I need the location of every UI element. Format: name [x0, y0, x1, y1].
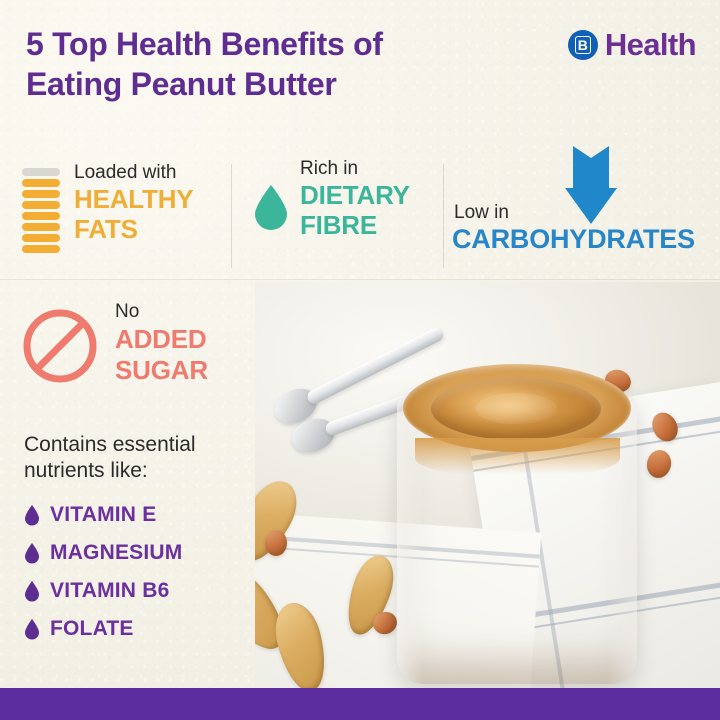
benefit-no-added-sugar-big-2: SUGAR — [115, 355, 208, 386]
benefit-healthy-fats-text: Loaded with HEALTHY FATS — [74, 162, 193, 244]
page-title-line-2: Eating Peanut Butter — [26, 64, 496, 104]
benefit-no-added-sugar-text: No ADDED SUGAR — [115, 300, 208, 386]
purple-drop-icon — [24, 619, 40, 640]
benefit-divider-2 — [443, 164, 444, 268]
benefit-divider-1 — [231, 164, 232, 268]
benefit-no-added-sugar-big-1: ADDED — [115, 324, 208, 355]
benefit-dietary-fibre-big-2: FIBRE — [300, 210, 410, 240]
benefit-low-carbohydrates-small: Low in — [454, 202, 509, 224]
down-arrow-icon — [565, 144, 617, 226]
nutrient-label: VITAMIN E — [50, 503, 156, 527]
infographic-canvas: 5 Top Health Benefits of Eating Peanut B… — [0, 0, 720, 720]
benefit-dietary-fibre-small: Rich in — [300, 158, 410, 180]
brand-logo-wordmark: Health — [605, 27, 696, 63]
water-drop-icon — [252, 184, 290, 230]
list-item: VITAMIN B6 — [24, 572, 254, 610]
jar-glass-highlight-left — [397, 392, 423, 684]
list-item: MAGNESIUM — [24, 534, 254, 572]
photo-peanut-butter-jar — [397, 364, 637, 684]
benefit-dietary-fibre-text: Rich in DIETARY FIBRE — [300, 158, 410, 240]
nutrients-lead-line-2: nutrients like: — [24, 458, 254, 484]
nutrients-section: Contains essential nutrients like: VITAM… — [24, 432, 254, 648]
list-item: FOLATE — [24, 610, 254, 648]
benefit-low-carbohydrates-big-1: CARBOHYDRATES — [452, 224, 695, 254]
nutrients-lead-line-1: Contains essential — [24, 432, 254, 458]
benefit-healthy-fats-small: Loaded with — [74, 162, 193, 184]
nutrient-label: MAGNESIUM — [50, 541, 182, 565]
stacked-bars-icon — [22, 168, 60, 253]
benefit-healthy-fats-big-2: FATS — [74, 214, 193, 244]
brand-logo-icon: B — [568, 30, 598, 60]
section-divider-line — [0, 279, 720, 280]
list-item: VITAMIN E — [24, 496, 254, 534]
nutrient-label: VITAMIN B6 — [50, 579, 169, 603]
nutrients-lead: Contains essential nutrients like: — [24, 432, 254, 484]
footer-bar — [0, 688, 720, 720]
purple-drop-icon — [24, 505, 40, 526]
benefit-dietary-fibre-big-1: DIETARY — [300, 180, 410, 210]
benefit-no-added-sugar-small: No — [115, 300, 208, 324]
prohibition-sign-icon — [22, 308, 98, 384]
benefit-healthy-fats-big-1: HEALTHY — [74, 184, 193, 214]
page-title-line-1: 5 Top Health Benefits of — [26, 24, 496, 64]
purple-drop-icon — [24, 543, 40, 564]
nutrients-list: VITAMIN E MAGNESIUM VITAMIN B6 FOLATE — [24, 496, 254, 648]
logo-letter: B — [568, 30, 598, 60]
jar-glass-highlight-right — [607, 392, 637, 684]
photo-peanut-kernel — [265, 530, 287, 556]
brand-logo[interactable]: B Health — [568, 27, 696, 63]
benefits-row: Loaded with HEALTHY FATS Rich in DIETARY… — [0, 150, 720, 275]
jar-peanut-butter-drip — [415, 438, 620, 478]
jar-peanut-butter-swirl — [431, 378, 601, 440]
page-title: 5 Top Health Benefits of Eating Peanut B… — [26, 24, 496, 104]
purple-drop-icon — [24, 581, 40, 602]
peanut-butter-photo — [255, 282, 720, 692]
nutrient-label: FOLATE — [50, 617, 134, 641]
